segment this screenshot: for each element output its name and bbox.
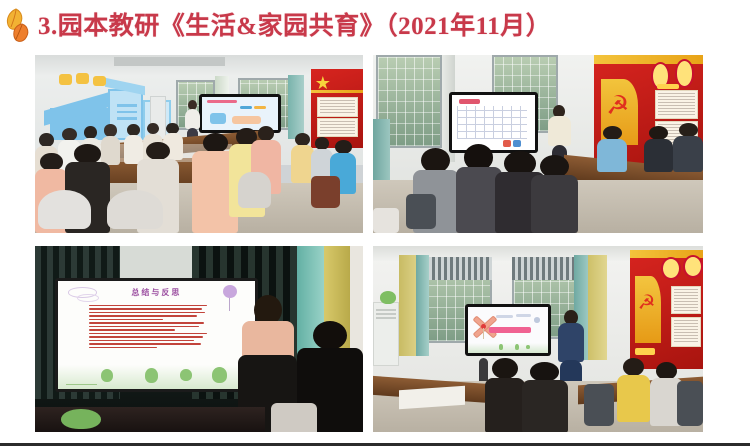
slide-title-row: 3.园本教研《生活&家园共育》（2021年11月） — [0, 4, 750, 48]
presentation-screen: 总结与反思 — [55, 278, 258, 392]
presentation-slide: 3.园本教研《生活&家园共育》（2021年11月） 教研会议现场：教师围坐长条会… — [0, 0, 750, 446]
slide-banner — [489, 327, 530, 333]
photo-top-left[interactable]: 教研会议现场：教师围坐长条会议桌，主讲教师在电子白板前讲解 — [35, 55, 363, 233]
wall-decor-party-board: ☭ — [630, 250, 703, 370]
slide-body-text — [89, 305, 211, 351]
photo-bottom-left[interactable]: 教师手持话筒作总结发言，屏幕显示《总结与反思》课件 总结与反思 — [35, 246, 363, 433]
photo-bottom-right[interactable]: 教师在电子白板前分享，屏幕显示风车图案课件 — [373, 246, 703, 433]
autumn-leaf-icon — [2, 6, 40, 46]
wall-decor-party-board: ★ — [311, 69, 363, 147]
photo-grid: 教研会议现场：教师围坐长条会议桌，主讲教师在电子白板前讲解 — [35, 55, 703, 433]
presentation-screen — [465, 304, 551, 356]
page-title: 3.园本教研《生活&家园共育》（2021年11月） — [38, 14, 551, 39]
photo-top-right[interactable]: 男教师在电子白板前讲解表格内容，党建文化墙在右侧 — [373, 55, 703, 233]
bottom-white-strip — [0, 432, 750, 443]
